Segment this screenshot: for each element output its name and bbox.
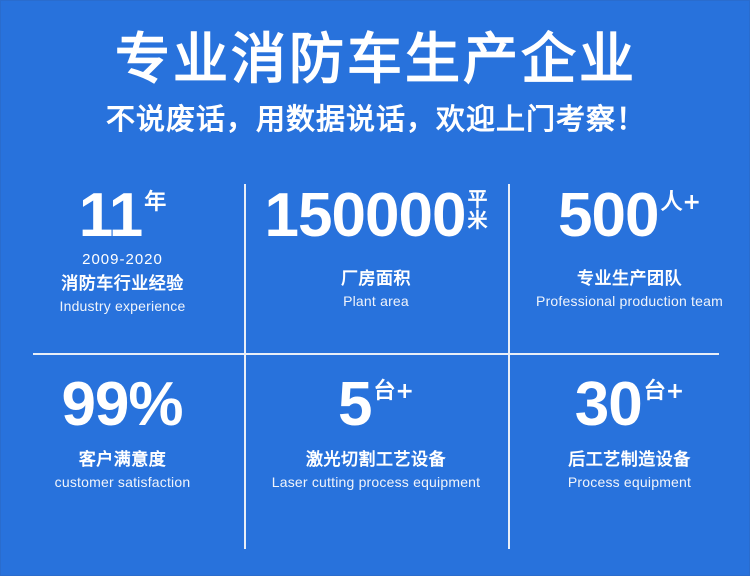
stat-value-row: 500 人+ [558, 187, 701, 246]
stat-unit: 台+ [644, 380, 684, 403]
promo-banner: 专业消防车生产企业 不说废话，用数据说话，欢迎上门考察！ 11 年 2009-2… [0, 0, 750, 576]
stat-cell-production-team: 500 人+ 专业生产团队 Professional production te… [508, 187, 750, 354]
stat-number: 5 [338, 376, 371, 435]
stat-value-row: 30 台+ [575, 376, 684, 435]
headline-subtitle: 不说废话，用数据说话，欢迎上门考察！ [1, 92, 750, 137]
banner-header: 专业消防车生产企业 不说废话，用数据说话，欢迎上门考察！ [1, 1, 750, 137]
stat-label-cn: 客户满意度 [79, 449, 167, 471]
stat-label-cn: 消防车行业经验 [61, 273, 184, 295]
stat-unit-line1: 平 [467, 189, 487, 210]
stat-unit: 人+ [661, 191, 701, 214]
stats-grid: 11 年 2009-2020 消防车行业经验 Industry experien… [1, 187, 750, 549]
headline-title: 专业消防车生产企业 [1, 1, 750, 92]
stat-unit: % [128, 376, 183, 435]
stat-label-cn: 后工艺制造设备 [568, 449, 691, 471]
stat-value-row: 99 % [61, 376, 183, 435]
stat-unit-line2: 米 [467, 210, 487, 231]
stat-value-row: 5 台+ [338, 376, 414, 435]
stat-number: 30 [575, 376, 642, 435]
stat-value-row: 150000 平 米 [265, 187, 488, 246]
stat-unit: 年 [144, 191, 166, 214]
stat-cell-industry-experience: 11 年 2009-2020 消防车行业经验 Industry experien… [1, 187, 244, 354]
stat-label-cn: 激光切割工艺设备 [306, 449, 446, 471]
stat-number: 500 [558, 187, 658, 246]
stat-label-cn: 专业生产团队 [577, 268, 682, 290]
stat-label-en: Industry experience [60, 297, 186, 315]
stat-unit: 平 米 [467, 189, 487, 231]
stat-cell-process-equipment: 30 台+ 后工艺制造设备 Process equipment [508, 354, 750, 549]
stat-number: 150000 [265, 187, 466, 246]
stat-label-en: Laser cutting process equipment [272, 473, 481, 491]
stat-label-en: Professional production team [536, 292, 723, 310]
stat-label-en: customer satisfaction [55, 473, 191, 491]
stat-number: 99 [61, 376, 128, 435]
stat-label-cn: 厂房面积 [341, 268, 411, 290]
stat-label-en: Plant area [343, 292, 409, 310]
stat-label-en: Process equipment [568, 473, 691, 491]
stat-cell-plant-area: 150000 平 米 厂房面积 Plant area [244, 187, 508, 354]
stat-year-range: 2009-2020 [82, 251, 163, 269]
stat-number: 11 [79, 187, 143, 246]
stat-unit: 台+ [374, 380, 414, 403]
stat-value-row: 11 年 [79, 187, 167, 246]
stat-cell-customer-satisfaction: 99 % 客户满意度 customer satisfaction [1, 354, 244, 549]
stat-cell-laser-cutting-equipment: 5 台+ 激光切割工艺设备 Laser cutting process equi… [244, 354, 508, 549]
